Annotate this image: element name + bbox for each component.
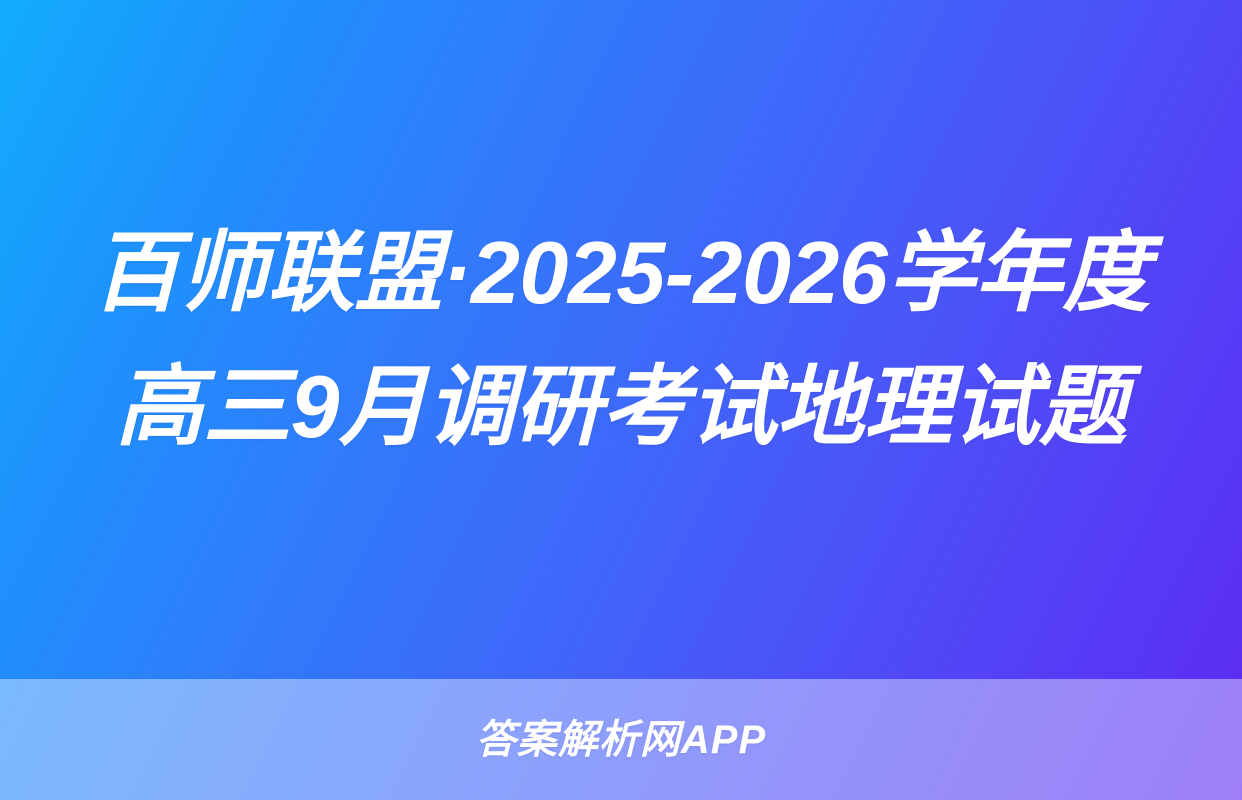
exam-title-card: 百师联盟·2025-2026学年度高三9月调研考试地理试题 答案解析网APP [0,0,1242,800]
watermark-band: 答案解析网APP [0,679,1242,800]
app-watermark-label: 答案解析网APP [476,720,766,760]
page-title: 百师联盟·2025-2026学年度高三9月调研考试地理试题 [86,206,1156,474]
title-block: 百师联盟·2025-2026学年度高三9月调研考试地理试题 [0,0,1242,679]
